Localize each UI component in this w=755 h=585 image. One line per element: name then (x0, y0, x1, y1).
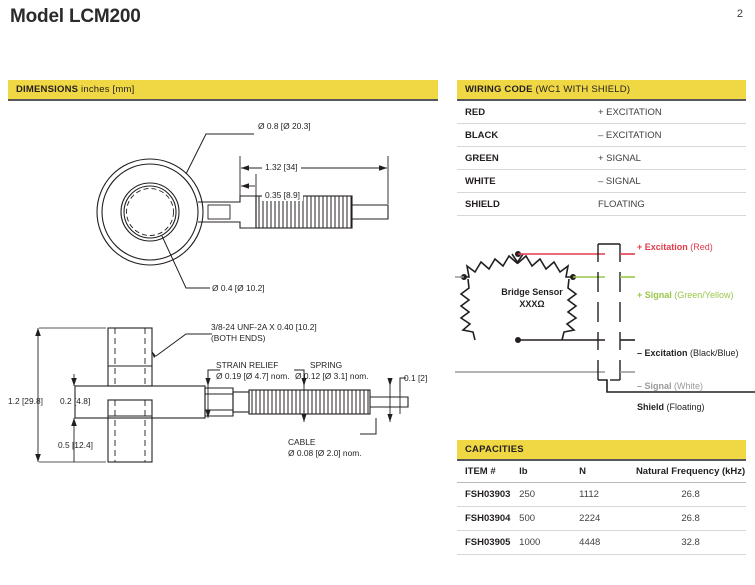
label-height-total: 1.2 [29.8] (8, 396, 43, 407)
cable-outline (352, 205, 388, 219)
column-header-n: N (571, 461, 635, 483)
lead-paren: (Black/Blue) (690, 348, 739, 358)
cell-item: FSH03905 (457, 530, 511, 554)
wiring-header-bar: WIRING CODE (WC1 WITH SHIELD) (457, 80, 746, 99)
column-header-item: ITEM # (457, 461, 511, 483)
spring-coil-hatch-side (252, 390, 368, 414)
table-row: RED + EXCITATION (457, 101, 746, 124)
label-cable-line2: Ø 0.08 [Ø 2.0] nom. (288, 448, 362, 459)
stud-upper (108, 328, 152, 386)
wire-name: WHITE (457, 169, 590, 192)
shaft-outline (198, 196, 256, 228)
label-overall-length: 1.32 [34] (262, 162, 301, 173)
column-header-lb: lb (511, 461, 571, 483)
label-inner-diameter: Ø 0.4 [Ø 10.2] (212, 283, 265, 294)
capacities-section: CAPACITIES ITEM # lb N Natural Frequency… (457, 440, 746, 555)
leader-thread-note (156, 334, 212, 356)
label-height-body: 0.2 [4.8] (60, 396, 90, 407)
label-short-length: 0.35 [8.9] (262, 190, 303, 201)
wire-function: – SIGNAL (590, 169, 746, 192)
table-row: SHIELD FLOATING (457, 192, 746, 215)
cell-natural-frequency: 26.8 (635, 506, 746, 530)
column-header-natural-frequency: Natural Frequency (kHz) (635, 461, 746, 483)
lead-name: – Signal (637, 381, 672, 391)
label-strain-relief-line1: STRAIN RELIEF (216, 360, 278, 371)
ring-bore-inner-circle (124, 186, 176, 238)
bridge-sensor-label-line1: Bridge Sensor (476, 286, 588, 298)
label-spring-line2: Ø 0.12 [Ø 3.1] nom. (295, 371, 369, 382)
cell-natural-frequency: 26.8 (635, 482, 746, 506)
lead-label-signal-positive: + Signal (Green/Yellow) (637, 290, 733, 300)
lead-paren: (Green/Yellow) (674, 290, 733, 300)
cell-item: FSH03904 (457, 506, 511, 530)
lead-label-shield: Shield (Floating) (637, 402, 705, 412)
lead-name: + Excitation (637, 242, 688, 252)
cell-lb: 250 (511, 482, 571, 506)
lead-name: Shield (637, 402, 664, 412)
wire-function: + SIGNAL (590, 146, 746, 169)
bridge-wiring-diagram (455, 232, 755, 422)
table-row: FSH03903 250 1112 26.8 (457, 482, 746, 506)
lead-label-excitation-negative: – Excitation (Black/Blue) (637, 348, 739, 358)
lead-name: – Excitation (637, 348, 688, 358)
dimensions-section: DIMENSIONS inches [mm] (8, 80, 438, 101)
ring-bore-circle (121, 183, 179, 241)
strain-relief-step (233, 392, 249, 412)
resistor-bottom-left (461, 279, 475, 340)
cable-connector (598, 244, 755, 392)
wire-function: FLOATING (590, 192, 746, 215)
label-cable-offset: 0.1 [2] (404, 373, 427, 384)
cell-n: 4448 (571, 530, 635, 554)
ring-outer-circle (97, 159, 203, 265)
cell-natural-frequency: 32.8 (635, 530, 746, 554)
side-leader-lines (156, 334, 406, 434)
label-outer-diameter: Ø 0.8 [Ø 20.3] (258, 121, 311, 132)
page-title: Model LCM200 (10, 6, 141, 28)
lead-paren: (Floating) (667, 402, 705, 412)
label-cable-line1: CABLE (288, 437, 315, 448)
lead-stubs (620, 254, 635, 372)
page-number: 2 (737, 8, 743, 20)
shaft-detail-rect (208, 205, 230, 219)
ring-outer-inner-circle (102, 164, 198, 260)
table-row: GREEN + SIGNAL (457, 146, 746, 169)
capacities-bar-title: CAPACITIES (465, 444, 524, 455)
label-height-lower: 0.5 [12.4] (58, 440, 93, 451)
lead-paren: (Red) (690, 242, 713, 252)
lead-label-excitation-positive: + Excitation (Red) (637, 242, 713, 252)
lead-name: + Signal (637, 290, 672, 300)
cell-n: 2224 (571, 506, 635, 530)
stud-hidden-lines (115, 328, 145, 462)
bridge-sensor-label-line2: XXXΩ (476, 298, 588, 310)
label-spring-line1: SPRING (310, 360, 342, 371)
wiring-code-table: RED + EXCITATION BLACK – EXCITATION GREE… (457, 101, 746, 216)
wiring-bar-subtitle: (WC1 WITH SHIELD) (536, 84, 631, 95)
leader-cable (360, 418, 376, 434)
wire-function: – EXCITATION (590, 123, 746, 146)
wire-function: + EXCITATION (590, 101, 746, 124)
dimensions-header-rule (8, 99, 438, 101)
table-header-row: ITEM # lb N Natural Frequency (kHz) (457, 461, 746, 483)
wire-name: SHIELD (457, 192, 590, 215)
bridge-sensor-label: Bridge Sensor XXXΩ (476, 286, 588, 310)
wire-name: GREEN (457, 146, 590, 169)
dimensions-bar-title: DIMENSIONS (16, 84, 78, 95)
lead-paren: (White) (674, 381, 703, 391)
lead-label-signal-negative: – Signal (White) (637, 381, 703, 391)
label-thread-note-line2: (BOTH ENDS) (211, 333, 265, 344)
wiring-code-section: WIRING CODE (WC1 WITH SHIELD) RED + EXCI… (457, 80, 746, 216)
table-row: FSH03905 1000 4448 32.8 (457, 530, 746, 554)
capacities-header-bar: CAPACITIES (457, 440, 746, 459)
dimensions-bar-subtitle: inches [mm] (81, 84, 134, 95)
table-row: WHITE – SIGNAL (457, 169, 746, 192)
label-thread-note-line1: 3/8-24 UNF-2A X 0.40 [10.2] (211, 322, 317, 333)
label-strain-relief-line2: Ø 0.19 [Ø 4.7] nom. (216, 371, 290, 382)
capacities-table: ITEM # lb N Natural Frequency (kHz) FSH0… (457, 461, 746, 555)
ring-hidden-circle (127, 189, 174, 236)
dimensions-header-bar: DIMENSIONS inches [mm] (8, 80, 438, 99)
cell-lb: 1000 (511, 530, 571, 554)
cell-n: 1112 (571, 482, 635, 506)
wire-name: BLACK (457, 123, 590, 146)
wiring-bar-title: WIRING CODE (465, 84, 533, 95)
body-outline (75, 386, 205, 418)
cell-item: FSH03903 (457, 482, 511, 506)
wire-name: RED (457, 101, 590, 124)
cable-outline-side (370, 397, 408, 407)
cell-lb: 500 (511, 506, 571, 530)
top-view-drawing (88, 112, 408, 307)
table-row: FSH03904 500 2224 26.8 (457, 506, 746, 530)
table-row: BLACK – EXCITATION (457, 123, 746, 146)
